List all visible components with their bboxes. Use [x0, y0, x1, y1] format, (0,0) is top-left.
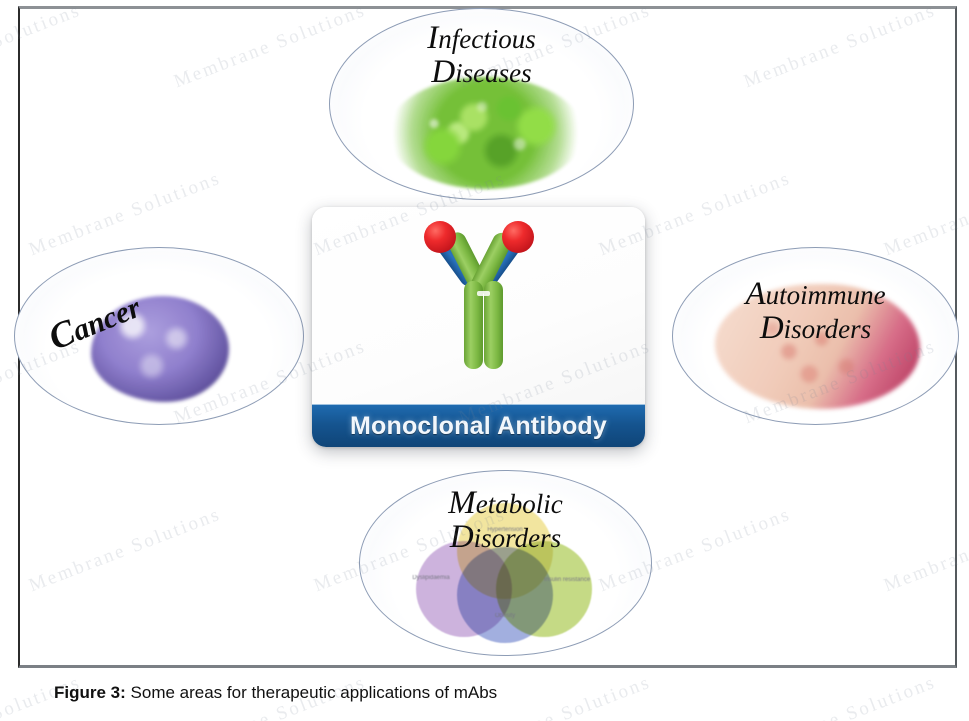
- antibody-diagram-icon: [384, 217, 574, 385]
- microbes-artwork: [388, 77, 583, 189]
- monoclonal-antibody-banner: Monoclonal Antibody: [312, 404, 645, 447]
- venn-circle-dyslipidaemia: [416, 541, 512, 637]
- node-autoimmune-disorders[interactable]: Autoimmune Disorders: [672, 247, 959, 425]
- venn-label-obesity: Obesity: [478, 613, 532, 621]
- venn-label-dyslipidaemia: Dyslipidaemia: [404, 575, 458, 583]
- figure-root: Infectious Diseases Cancer Autoimmune Di…: [0, 0, 969, 721]
- node-infectious-diseases[interactable]: Infectious Diseases: [329, 8, 634, 200]
- rash-skin-artwork: [715, 284, 920, 409]
- monoclonal-antibody-card[interactable]: Monoclonal Antibody: [312, 207, 645, 447]
- monoclonal-antibody-title: Monoclonal Antibody: [350, 412, 607, 441]
- venn-label-hypertension: Hypertension: [478, 527, 532, 535]
- hinge-notch: [477, 291, 490, 296]
- tumor-cells-artwork: [91, 296, 229, 402]
- watermark-text: Membrane Solutions: [741, 672, 939, 721]
- figure-caption-label: Figure 3:: [54, 683, 126, 702]
- antigen-binding-site-right: [502, 221, 534, 253]
- figure-caption-text: Some areas for therapeutic applications …: [126, 683, 497, 702]
- antigen-binding-site-left: [424, 221, 456, 253]
- node-metabolic-disorders[interactable]: Hypertension Insulin resistance Obesity …: [359, 470, 652, 656]
- venn-label-insulin-resistance: Insulin resistance: [540, 577, 594, 585]
- figure-caption: Figure 3: Some areas for therapeutic app…: [54, 683, 497, 703]
- metabolic-venn-diagram: Hypertension Insulin resistance Obesity …: [400, 501, 610, 645]
- node-cancer[interactable]: Cancer: [14, 247, 304, 425]
